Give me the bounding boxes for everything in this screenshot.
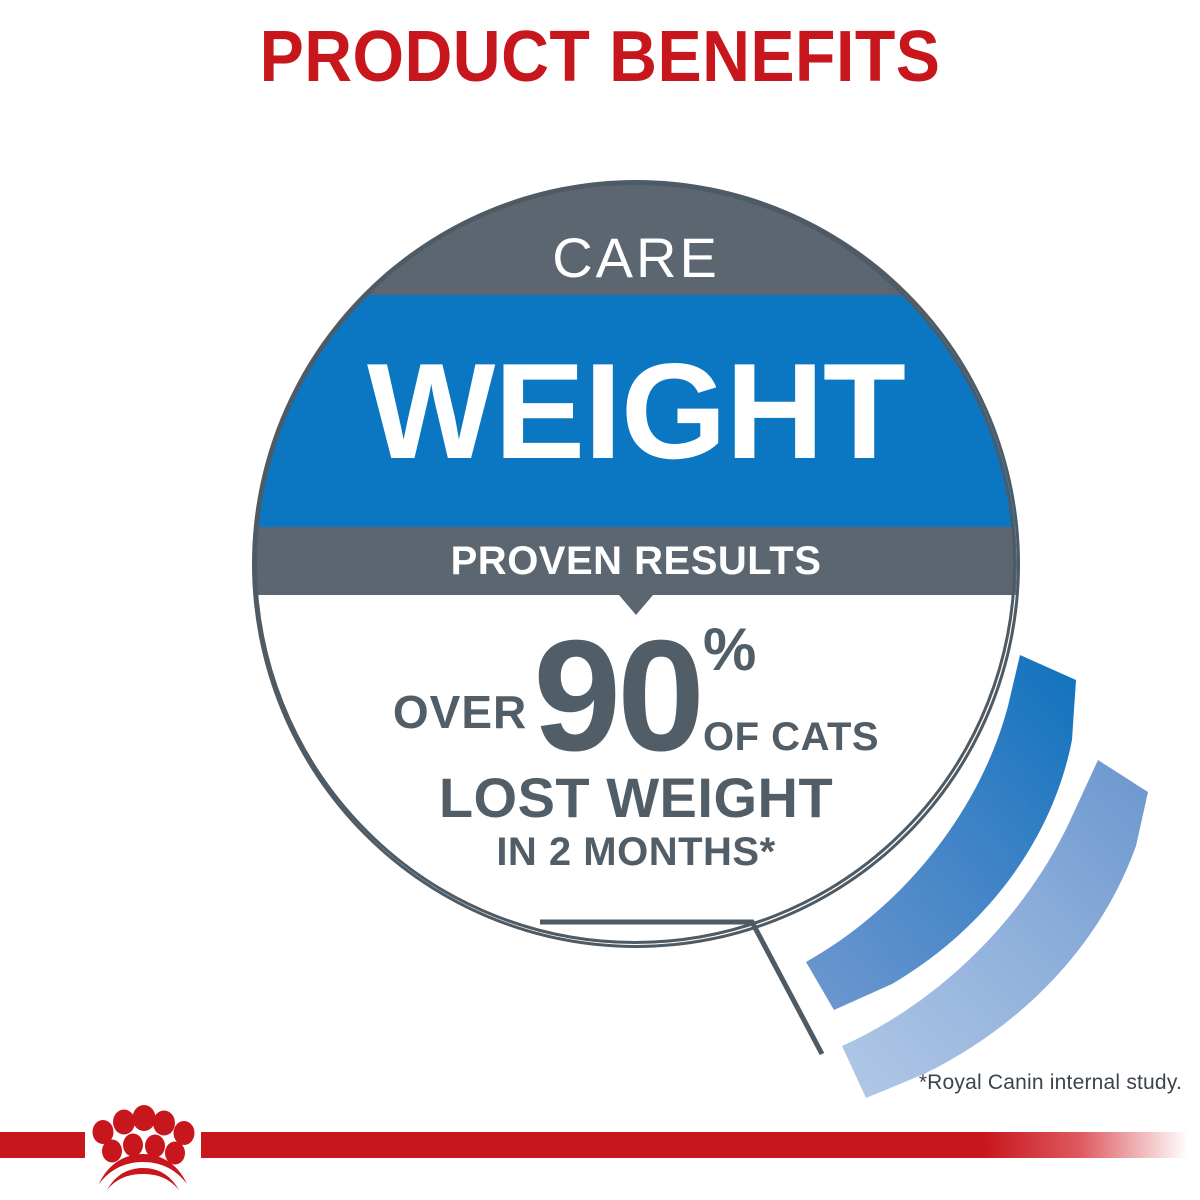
stat-percent-symbol: % — [703, 621, 756, 679]
stat-primary-row: OVER 90 % OF CATS — [255, 621, 1017, 771]
badge-eyebrow-label: CARE — [552, 229, 720, 287]
product-benefit-badge: CARE WEIGHT PROVEN RESULTS OVER 90 % OF … — [255, 183, 1017, 945]
footnote-text: *Royal Canin internal study. — [919, 1070, 1182, 1096]
page-title: PRODUCT BENEFITS — [48, 16, 1152, 98]
badge-subhead-label: PROVEN RESULTS — [451, 540, 822, 582]
crown-icon — [83, 1098, 203, 1190]
badge-headline-label: WEIGHT — [367, 341, 905, 481]
badge-eyebrow-band: CARE — [255, 183, 1017, 295]
stat-qualifier-label: OF CATS — [703, 717, 879, 757]
badge-stats-block: OVER 90 % OF CATS LOST WEIGHT IN 2 MONTH… — [255, 621, 1017, 875]
stat-prefix-label: OVER — [393, 689, 527, 735]
badge-headline-band: WEIGHT — [255, 295, 1017, 527]
stat-side-column: % OF CATS — [703, 621, 879, 761]
stat-number-value: 90 — [533, 621, 701, 771]
badge-subhead-band: PROVEN RESULTS — [255, 527, 1017, 595]
stat-line-three: IN 2 MONTHS* — [255, 829, 1017, 875]
